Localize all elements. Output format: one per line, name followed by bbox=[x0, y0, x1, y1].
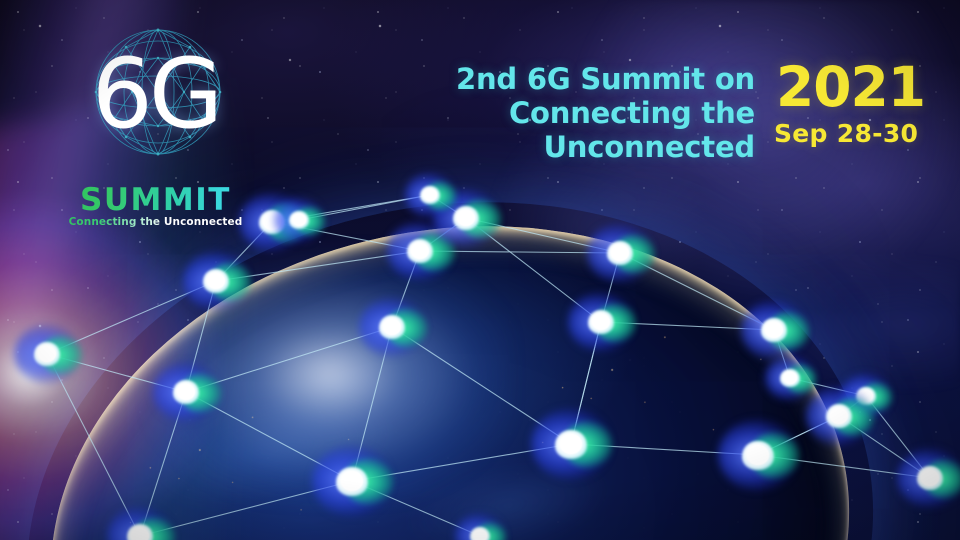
logo-6g-mark: 6G bbox=[58, 40, 253, 148]
node-core bbox=[747, 445, 769, 465]
event-year: 2021 bbox=[776, 58, 925, 116]
node-core bbox=[765, 322, 783, 338]
node-core bbox=[424, 189, 437, 201]
node-core bbox=[383, 319, 401, 335]
poster-canvas: 6G SUMMIT Connecting the Unconnected 2nd… bbox=[0, 0, 960, 540]
headline-line-2: Connecting the bbox=[295, 96, 755, 130]
node-core bbox=[341, 471, 363, 491]
node-core bbox=[131, 528, 149, 540]
node-core bbox=[830, 408, 848, 424]
node-core bbox=[457, 210, 475, 226]
node-core bbox=[411, 243, 429, 259]
logo-tagline: Connecting the Unconnected bbox=[58, 216, 253, 228]
logo-wordmark: SUMMIT bbox=[58, 182, 253, 218]
event-dates: Sep 28-30 bbox=[774, 119, 918, 148]
headline-line-1: 2nd 6G Summit on bbox=[295, 62, 755, 96]
node-core bbox=[592, 314, 610, 330]
node-core bbox=[611, 245, 629, 261]
node-core bbox=[38, 346, 56, 362]
node-core bbox=[207, 273, 225, 289]
node-core bbox=[474, 530, 487, 540]
node-core bbox=[177, 384, 195, 400]
event-headline: 2nd 6G Summit on Connecting the Unconnec… bbox=[295, 62, 755, 164]
node-core bbox=[784, 372, 797, 384]
node-core bbox=[293, 214, 306, 226]
headline-line-3: Unconnected bbox=[295, 130, 755, 164]
node-core bbox=[560, 434, 582, 454]
summit-logo: 6G SUMMIT Connecting the Unconnected bbox=[58, 22, 253, 214]
node-core bbox=[921, 470, 939, 486]
